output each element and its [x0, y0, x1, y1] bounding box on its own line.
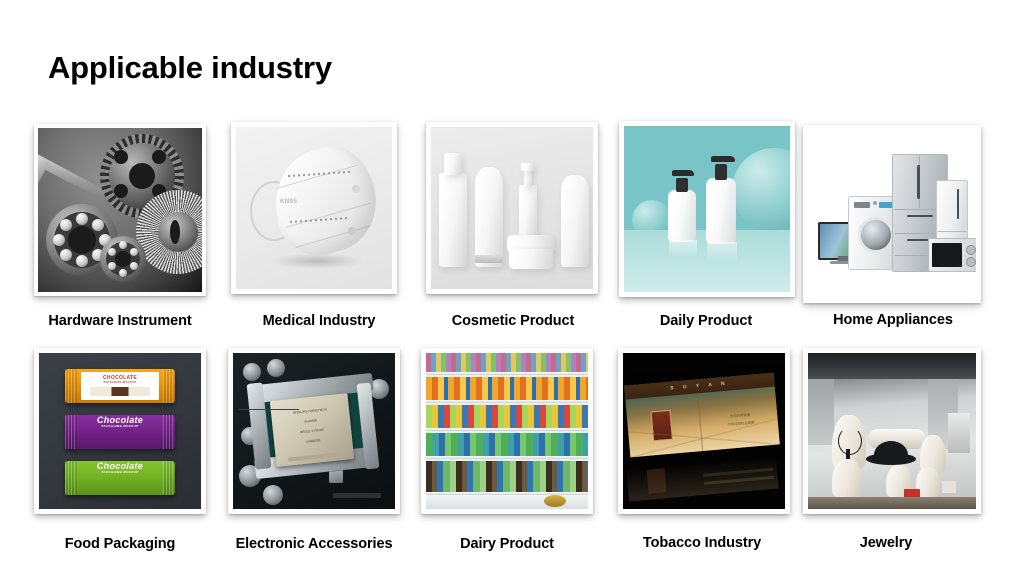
industry-image-cosmetic-product: [431, 127, 593, 289]
industry-card-tobacco-industry[interactable]: S U Y A N 吿烟有害健康 尽早戒烟有益健康: [618, 348, 790, 514]
industry-image-hardware-instrument: [38, 128, 202, 292]
bar-purple-sub: PACKAGING MOCKUP: [65, 425, 175, 428]
industry-caption-hardware-instrument: Hardware Instrument: [0, 313, 240, 329]
industry-image-jewelry: [808, 353, 976, 509]
industry-card-jewelry[interactable]: [803, 348, 981, 514]
industry-card-cosmetic-product[interactable]: [426, 122, 598, 294]
cigarette-pack: S U Y A N 吿烟有害健康 尽早戒烟有益健康: [624, 373, 780, 458]
industry-card-medical-industry[interactable]: KN95: [231, 122, 397, 294]
industry-image-dairy-product: [426, 353, 588, 509]
industry-card-daily-product[interactable]: [619, 121, 795, 297]
industry-card-food-packaging[interactable]: CHOCOLATE PACKAGING MOCKUP Chocolate PAC…: [34, 348, 206, 514]
industry-card-hardware-instrument[interactable]: [34, 124, 206, 296]
slide-canvas: Applicable industry: [0, 0, 1024, 576]
industry-caption-jewelry: Jewelry: [780, 535, 992, 551]
page-title: Applicable industry: [48, 50, 332, 86]
industry-card-home-appliances[interactable]: [803, 125, 981, 303]
bar-orange-sub: PACKAGING MOCKUP: [104, 382, 137, 385]
industry-image-daily-product: [624, 126, 790, 292]
industry-card-dairy-product[interactable]: [421, 348, 593, 514]
industry-image-home-appliances: [808, 130, 976, 298]
chocolate-bar-orange: CHOCOLATE PACKAGING MOCKUP: [65, 369, 175, 403]
industry-caption-home-appliances: Home Appliances: [778, 312, 1008, 328]
industry-card-electronic-accessories[interactable]: INTEL(R) CORE(TM) i5 i5-9600K SRG11 3.70…: [228, 348, 400, 514]
industry-image-food-packaging: CHOCOLATE PACKAGING MOCKUP Chocolate PAC…: [39, 353, 201, 509]
pack-brand-text: S U Y A N: [624, 377, 774, 396]
industry-image-medical-industry: KN95: [236, 127, 392, 289]
chocolate-bar-green: Chocolate PACKAGING MOCKUP: [65, 461, 175, 495]
chocolate-bar-purple: Chocolate PACKAGING MOCKUP: [65, 415, 175, 449]
industry-image-electronic-accessories: INTEL(R) CORE(TM) i5 i5-9600K SRG11 3.70…: [233, 353, 395, 509]
bar-green-sub: PACKAGING MOCKUP: [65, 471, 175, 474]
industry-image-tobacco-industry: S U Y A N 吿烟有害健康 尽早戒烟有益健康: [623, 353, 785, 509]
